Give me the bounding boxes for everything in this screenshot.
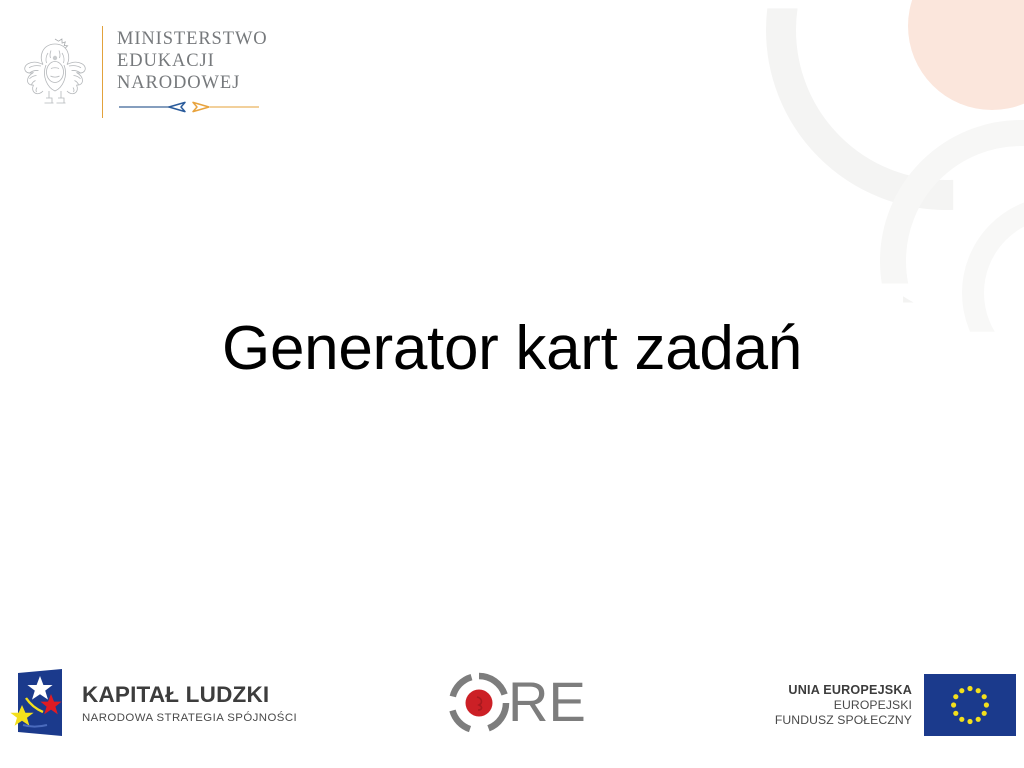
kapital-ludzki-subtitle: NARODOWA STRATEGIA SPÓJNOŚCI — [82, 712, 297, 724]
european-union-text: UNIA EUROPEJSKA EUROPEJSKI FUNDUSZ SPOŁE… — [775, 683, 912, 728]
presentation-slide: MINISTERSTWO EDUKACJI NARODOWEJ Generato… — [0, 0, 1024, 768]
ministry-logo: MINISTERSTWO EDUKACJI NARODOWEJ — [22, 26, 268, 118]
footer-logo-strip: KAPITAŁ LUDZKI NARODOWA STRATEGIA SPÓJNO… — [0, 660, 1024, 768]
eu-line-2: EUROPEJSKI — [775, 698, 912, 713]
ore-wordmark: RE — [508, 674, 586, 730]
arrow-flourish-icon — [117, 100, 261, 114]
kapital-ludzki-stars-icon — [10, 668, 68, 740]
ore-logo: RE — [448, 672, 586, 734]
ore-ring-icon — [448, 672, 510, 734]
kapital-ludzki-logo: KAPITAŁ LUDZKI NARODOWA STRATEGIA SPÓJNO… — [10, 668, 297, 740]
ministry-line-2: EDUKACJI — [117, 50, 268, 72]
kapital-ludzki-text: KAPITAŁ LUDZKI NARODOWA STRATEGIA SPÓJNO… — [82, 684, 297, 725]
eu-flag-icon — [924, 674, 1016, 736]
decorative-arc-icon — [766, 0, 1024, 210]
decorative-arc-icon — [800, 0, 1024, 354]
kapital-ludzki-title: KAPITAŁ LUDZKI — [82, 684, 297, 707]
page-title: Generator kart zadań — [0, 316, 1024, 381]
ministry-name: MINISTERSTWO EDUKACJI NARODOWEJ — [117, 26, 268, 114]
vertical-rule-icon — [102, 26, 103, 118]
ministry-line-3: NARODOWEJ — [117, 72, 268, 94]
eu-line-3: FUNDUSZ SPOŁECZNY — [775, 713, 912, 728]
eu-line-1: UNIA EUROPEJSKA — [775, 683, 912, 698]
decorative-circle-icon — [908, 0, 1024, 110]
polish-eagle-emblem-icon — [22, 32, 88, 108]
ministry-line-1: MINISTERSTWO — [117, 28, 268, 50]
european-union-logo: UNIA EUROPEJSKA EUROPEJSKI FUNDUSZ SPOŁE… — [775, 674, 1016, 736]
